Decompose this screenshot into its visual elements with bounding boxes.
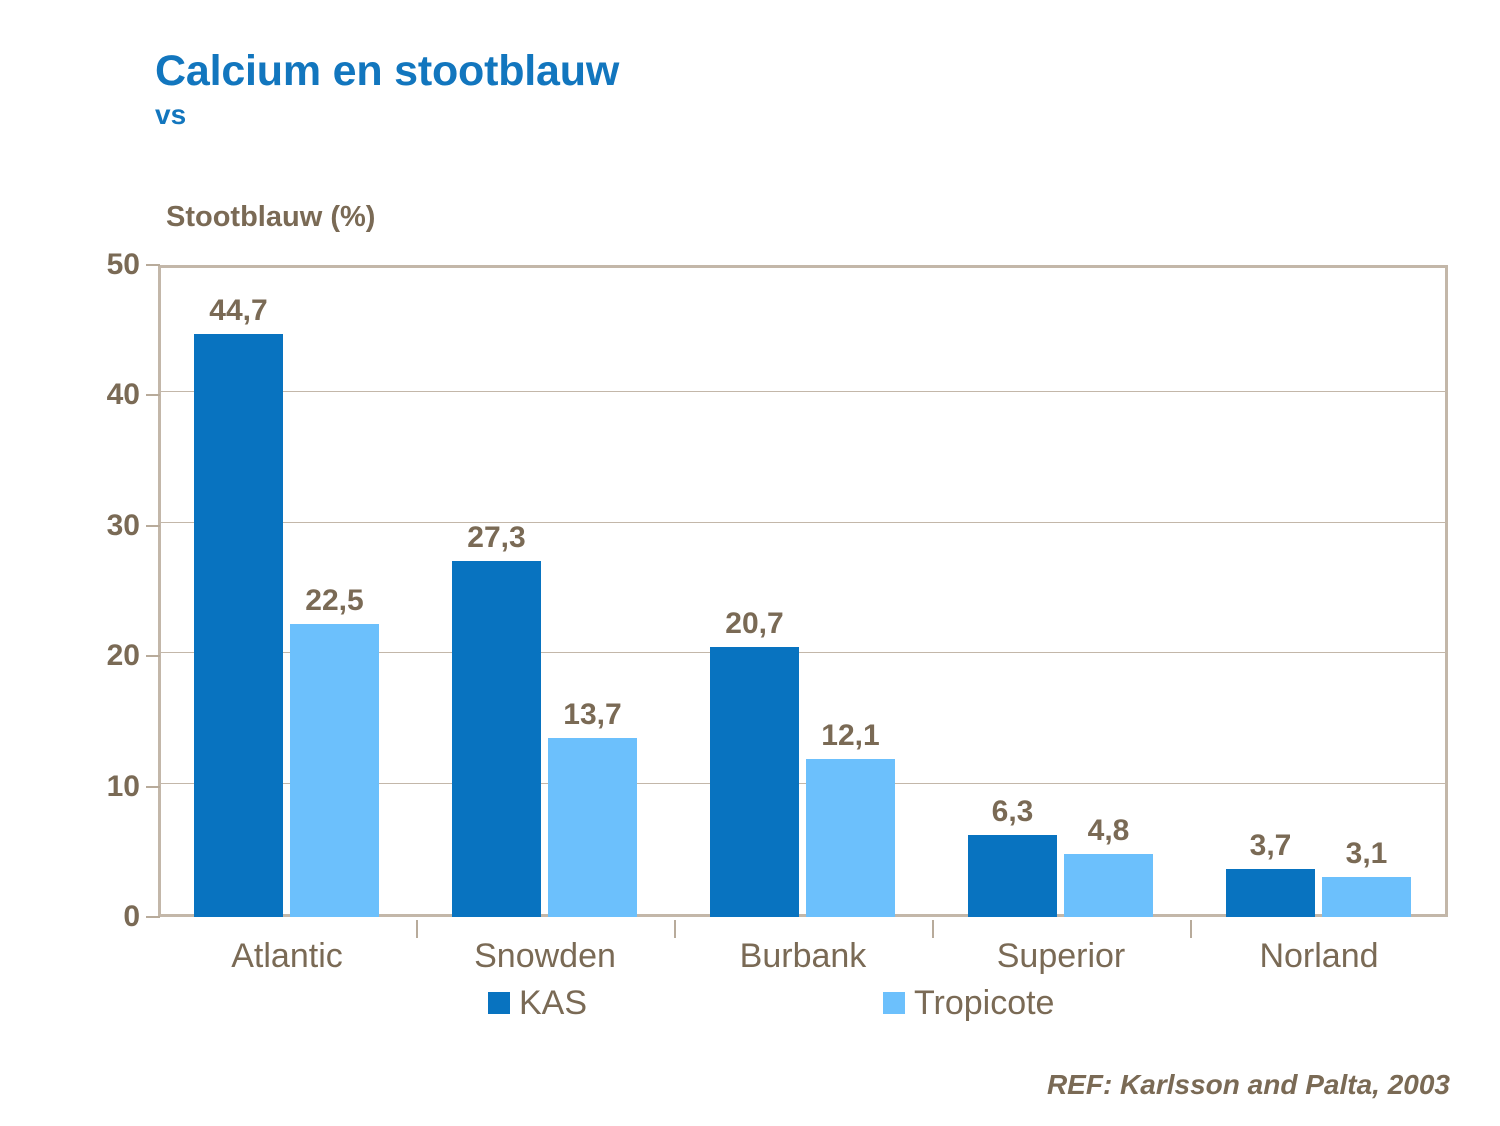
y-tick-label: 20: [78, 639, 140, 673]
legend-label: Tropicote: [914, 986, 1054, 1020]
bar-value-label: 27,3: [452, 521, 541, 555]
chart-legend: KASTropicote: [158, 986, 1448, 1034]
x-category-tick: [416, 920, 418, 938]
bar-value-label: 20,7: [710, 607, 799, 641]
legend-item-tropicote[interactable]: Tropicote: [883, 986, 1054, 1020]
title-block: Calcium en stootblauw vs: [155, 50, 619, 131]
bar-value-label: 13,7: [548, 698, 637, 732]
bars-layer: 44,722,527,313,720,712,16,34,83,73,1: [158, 265, 1448, 917]
legend-item-kas[interactable]: KAS: [488, 986, 587, 1020]
bar-tropicote-superior[interactable]: [1064, 854, 1153, 917]
x-category-label-norland: Norland: [1190, 937, 1448, 976]
bar-kas-superior[interactable]: [968, 835, 1057, 917]
bar-group: 20,712,1: [674, 265, 932, 917]
x-axis: AtlanticSnowdenBurbankSuperiorNorland: [158, 920, 1448, 980]
bar-group: 6,34,8: [932, 265, 1190, 917]
bar-kas-norland[interactable]: [1226, 869, 1315, 917]
x-category-label-atlantic: Atlantic: [158, 937, 416, 976]
page-subtitle: vs: [155, 99, 619, 131]
y-tick-label: 0: [78, 900, 140, 934]
bar-tropicote-atlantic[interactable]: [290, 624, 379, 917]
bar-tropicote-burbank[interactable]: [806, 759, 895, 917]
bar-group: 44,722,5: [158, 265, 416, 917]
bar-tropicote-snowden[interactable]: [548, 738, 637, 917]
legend-swatch-icon: [883, 992, 905, 1014]
y-tick-label: 10: [78, 770, 140, 804]
y-tick-label: 30: [78, 509, 140, 543]
reference-note: REF: Karlsson and Palta, 2003: [1047, 1069, 1450, 1101]
bar-value-label: 4,8: [1064, 814, 1153, 848]
x-category-tick: [674, 920, 676, 938]
bar-kas-snowden[interactable]: [452, 561, 541, 917]
x-category-tick: [932, 920, 934, 938]
bar-tropicote-norland[interactable]: [1322, 877, 1411, 917]
x-category-tick: [1190, 920, 1192, 938]
bar-group: 3,73,1: [1190, 265, 1448, 917]
bar-value-label: 3,7: [1226, 829, 1315, 863]
bar-value-label: 12,1: [806, 719, 895, 753]
x-category-label-superior: Superior: [932, 937, 1190, 976]
legend-swatch-icon: [488, 992, 510, 1014]
bar-kas-atlantic[interactable]: [194, 334, 283, 917]
bar-value-label: 6,3: [968, 795, 1057, 829]
x-category-label-burbank: Burbank: [674, 937, 932, 976]
x-category-label-snowden: Snowden: [416, 937, 674, 976]
page-title: Calcium en stootblauw: [155, 50, 619, 93]
y-axis-title: Stootblauw (%): [166, 201, 375, 234]
legend-label: KAS: [519, 986, 587, 1020]
bar-value-label: 3,1: [1322, 837, 1411, 871]
y-tick-label: 40: [78, 378, 140, 412]
bar-kas-burbank[interactable]: [710, 647, 799, 917]
bar-value-label: 44,7: [194, 294, 283, 328]
y-tick-label: 50: [78, 248, 140, 282]
bar-group: 27,313,7: [416, 265, 674, 917]
slide-root: { "title": "Calcium en stootblauw", "sub…: [0, 0, 1500, 1126]
bar-value-label: 22,5: [290, 584, 379, 618]
